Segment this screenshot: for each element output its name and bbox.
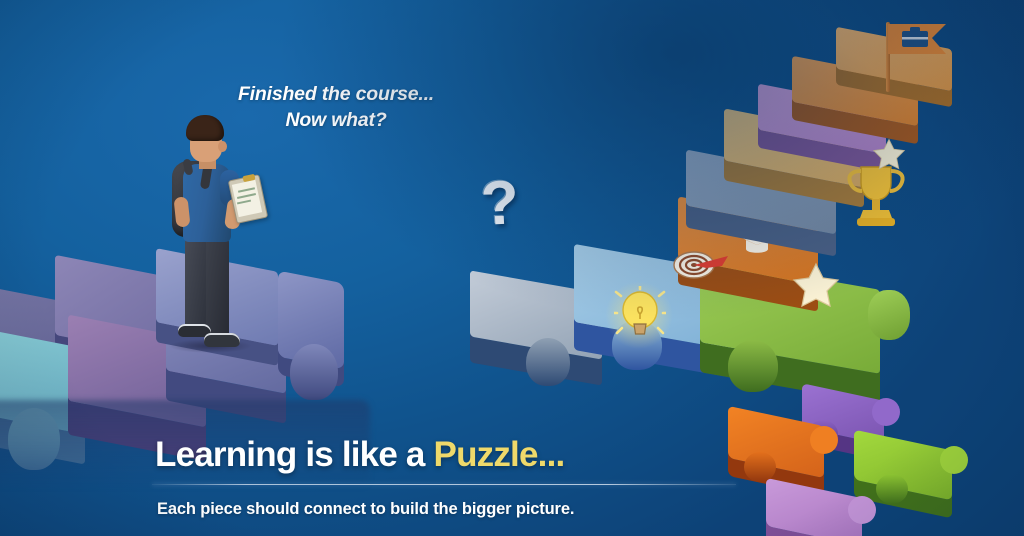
poster-canvas: ? Finished the course... Now what? Learn… (0, 0, 1024, 536)
summit-flag (880, 18, 970, 90)
flag-briefcase-icon (888, 24, 950, 72)
puzzle-knob-grey (526, 338, 570, 386)
loose-piece-green-tab (940, 446, 968, 474)
loose-puzzle-pieces (700, 390, 1024, 536)
headline: Learning is like a Puzzle... (155, 435, 564, 475)
headline-accent: Puzzle... (434, 435, 565, 474)
loose-piece-purple-tab (872, 398, 900, 426)
subtitle: Each piece should connect to build the b… (157, 500, 574, 519)
star-icon (792, 262, 840, 308)
loose-piece-orange-knob (744, 452, 776, 482)
leg-left (185, 235, 206, 331)
shoe-right (204, 333, 240, 347)
headline-lead: Learning is like a (155, 435, 434, 474)
question-mark: ? (479, 167, 521, 240)
kicker-line-1: Finished the course... (186, 82, 486, 108)
graduation-cap-icon (736, 225, 778, 259)
leg-right (206, 235, 229, 339)
loose-piece-green-knob (876, 474, 908, 504)
loose-piece-lilac-tab (848, 496, 876, 524)
target-dart-icon (672, 246, 730, 284)
star-icon (872, 138, 906, 170)
headline-divider (152, 484, 736, 485)
kicker-text: Finished the course... Now what? (186, 82, 486, 133)
trophy-icon (845, 163, 907, 229)
kicker-line-2: Now what? (186, 108, 486, 134)
ear (218, 141, 227, 152)
puzzle-knob-purple (290, 344, 338, 400)
student-character (150, 115, 260, 365)
puzzle-knob-green (728, 340, 778, 392)
loose-piece-orange-tab (810, 426, 838, 454)
